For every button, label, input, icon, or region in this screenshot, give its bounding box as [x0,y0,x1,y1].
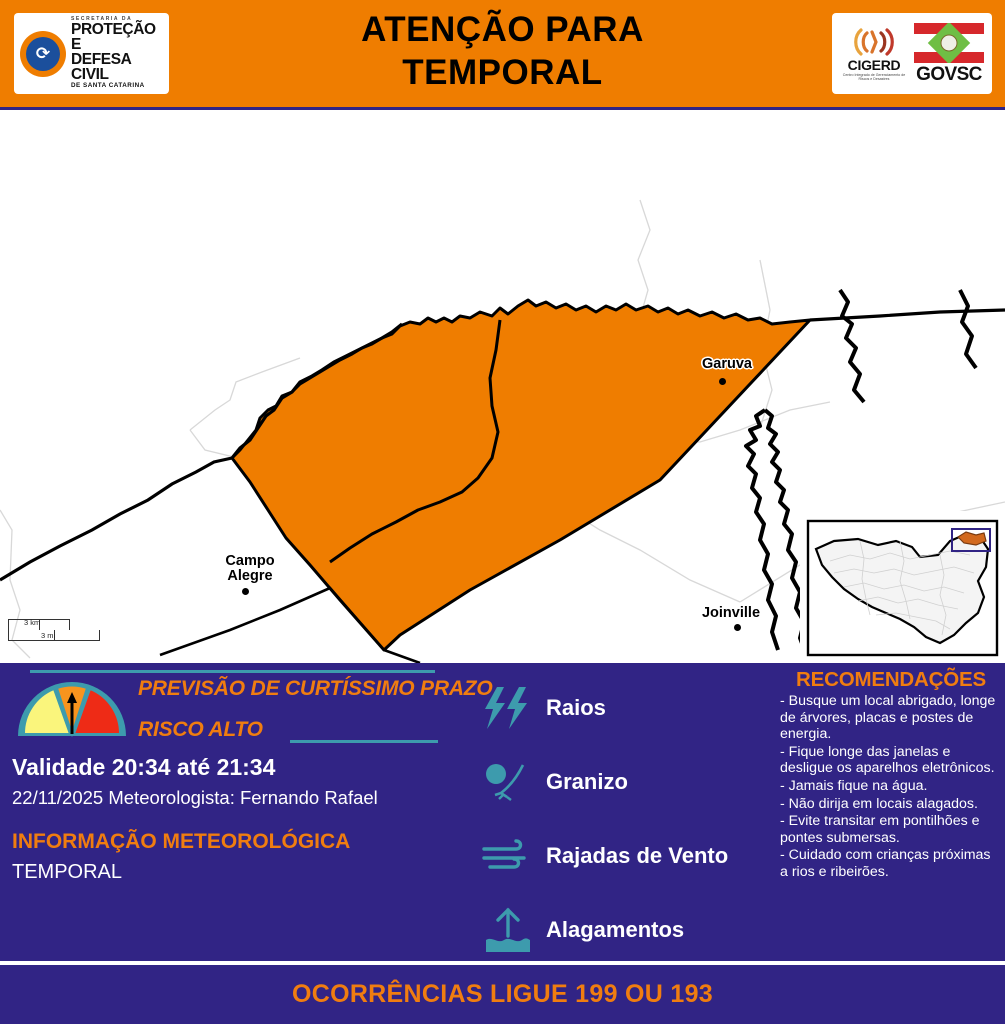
cigerd-subtitle: Centro Integrado de Gerenciamento de Ris… [838,73,910,82]
hazard-item-rajadas-de-vento: Rajadas de Vento [478,819,778,893]
divider-risk [290,740,438,743]
hazard-label: Rajadas de Vento [546,843,728,869]
cigerd-waves-icon [851,26,897,58]
emergency-footer: OCORRÊNCIAS LIGUE 199 OU 193 [0,965,1005,1024]
city-dot-joinville [734,624,741,631]
meteorological-info-heading: INFORMAÇÃO METEOROLÓGICA [12,830,350,854]
alert-header: ⟳ SECRETARIA DA PROTEÇÃO E DEFESA CIVIL … [0,0,1005,107]
risk-gauge [14,678,130,740]
govsc-logo: GOVSC [912,23,986,85]
flood-icon [478,904,538,956]
hazard-label: Granizo [546,769,628,795]
hazard-item-granizo: Granizo [478,745,778,819]
inset-locator-map [800,511,1005,663]
risk-level-label: RISCO ALTO [138,718,263,742]
alert-map[interactable]: Garuva Campo Alegre Joinville 3 km 3 mi [0,110,1005,663]
hazard-label: Raios [546,695,606,721]
validity-period: Validade 20:34 até 21:34 [12,754,275,781]
city-dot-garuva [719,378,726,385]
recommendation-item: - Jamais fique na água. [780,778,1002,795]
hail-icon [478,756,538,808]
city-label-campo-alegre: Campo Alegre [208,554,292,584]
hazard-label: Alagamentos [546,917,684,943]
weather-alert-page: ⟳ SECRETARIA DA PROTEÇÃO E DEFESA CIVIL … [0,0,1005,1024]
cigerd-name: CIGERD [848,58,901,72]
wind-gust-icon [478,830,538,882]
govsc-name: GOVSC [916,65,982,85]
map-scale-bar: 3 km 3 mi [8,619,100,649]
recommendation-item: - Cuidado com crianças próximas a rios e… [780,847,1002,880]
forecast-type-label: PREVISÃO DE CURTÍSSIMO PRAZO [138,677,493,701]
santa-catarina-flag-icon [914,23,984,63]
recommendation-item: - Não dirija em locais alagados. [780,796,1002,813]
lightning-bolt-icon [478,682,538,734]
city-dot-campo-alegre [242,588,249,595]
hazard-list: Raios Granizo [478,671,778,967]
hazard-item-alagamentos: Alagamentos [478,893,778,967]
meteorological-info-value: TEMPORAL [12,861,122,884]
info-panel: PREVISÃO DE CURTÍSSIMO PRAZO RISCO ALTO … [0,663,1005,961]
recommendation-item: - Fique longe das janelas e desligue os … [780,744,1002,777]
government-logos: CIGERD Centro Integrado de Gerenciamento… [832,13,992,94]
city-label-garuva: Garuva [690,357,764,372]
scale-km-label: 3 km [24,618,40,627]
meteorologist-line: 22/11/2025 Meteorologista: Fernando Rafa… [12,787,378,809]
scale-mi-label: 3 mi [41,631,55,640]
hazard-item-raios: Raios [478,671,778,745]
recommendations-panel: RECOMENDAÇÕES - Busque um local abrigado… [780,668,1002,881]
recommendation-item: - Evite transitar em pontilhões e pontes… [780,813,1002,846]
recommendation-item: - Busque um local abrigado, longe de árv… [780,693,1002,743]
cigerd-logo: CIGERD Centro Integrado de Gerenciamento… [838,26,910,82]
city-label-joinville: Joinville [690,606,772,621]
recommendations-title: RECOMENDAÇÕES [780,668,1002,692]
divider-top [30,670,435,673]
emergency-phone-text: OCORRÊNCIAS LIGUE 199 OU 193 [292,980,713,1009]
